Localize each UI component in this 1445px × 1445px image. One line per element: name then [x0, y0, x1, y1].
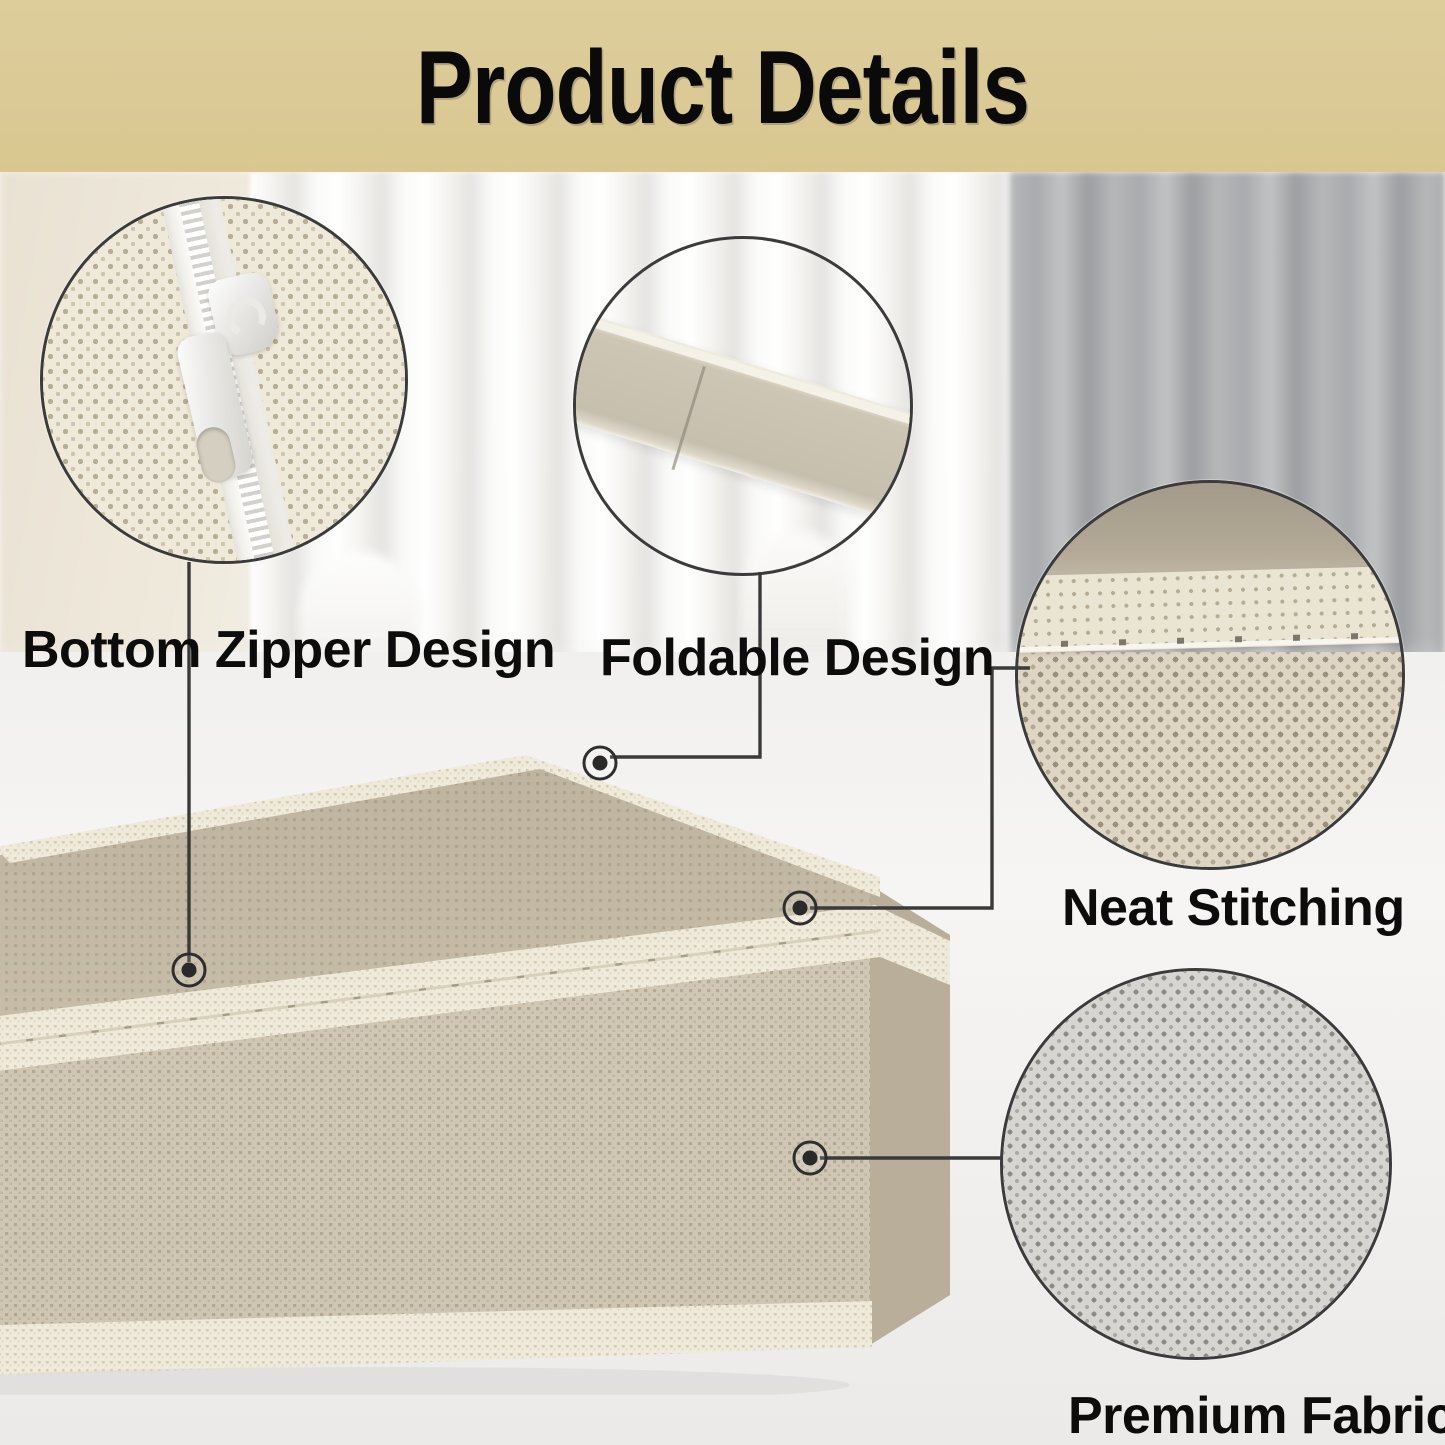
- header-banner: Product Details: [0, 0, 1445, 172]
- stitched-seam-icon: [1018, 483, 1402, 867]
- callout-circle-premium-fabric: [1000, 968, 1392, 1360]
- label-foldable: Foldable Design: [600, 628, 994, 688]
- callout-circle-foldable: [573, 236, 913, 576]
- page-title: Product Details: [130, 36, 1315, 140]
- label-bottom-zipper: Bottom Zipper Design: [22, 620, 555, 680]
- bin-shadow: [0, 1367, 850, 1395]
- zipper-icon: [43, 199, 405, 561]
- label-premium-fabric: Premium Fabric: [1068, 1386, 1445, 1445]
- label-neat-stitching: Neat Stitching: [1062, 878, 1405, 938]
- product-details-infographic: Bottom Zipper Design Foldable Design Nea…: [0, 0, 1445, 1445]
- callout-circle-bottom-zipper: [40, 196, 408, 564]
- callout-circle-neat-stitching: [1015, 480, 1405, 870]
- fabric-weave-icon: [1003, 971, 1389, 1357]
- storage-bin-product: [0, 735, 950, 1395]
- folded-panel-icon: [576, 239, 910, 573]
